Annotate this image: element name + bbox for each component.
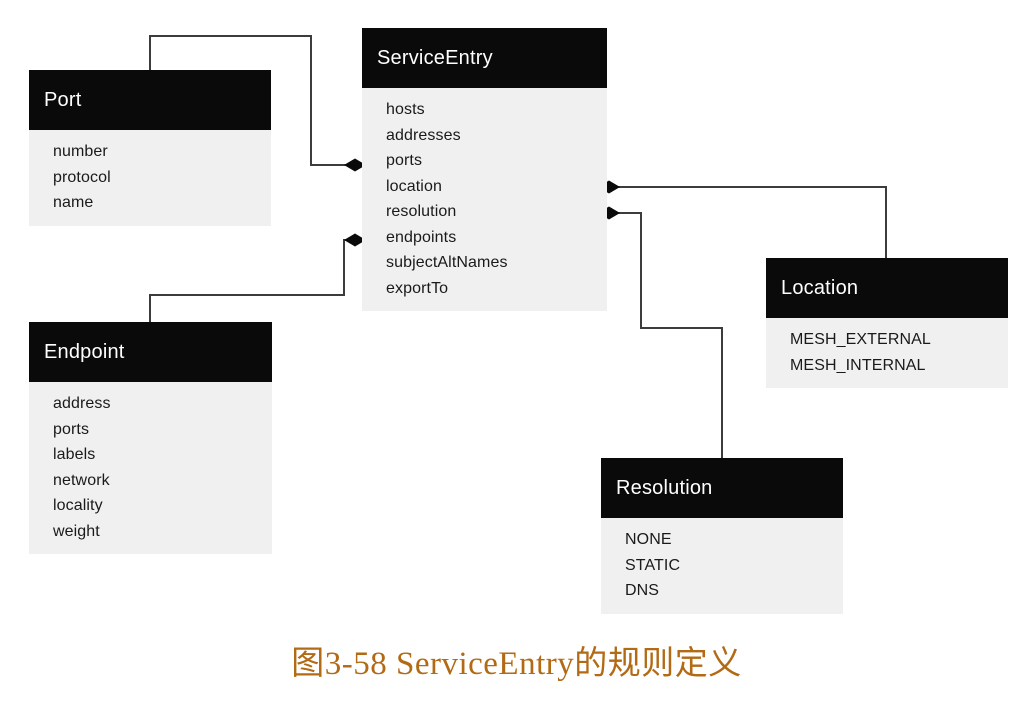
uml-class-endpoint-fields: address ports labels network locality we… bbox=[29, 382, 272, 554]
uml-class-resolution-title: Resolution bbox=[601, 458, 843, 518]
uml-class-serviceentry-title: ServiceEntry bbox=[362, 28, 607, 88]
uml-class-resolution-fields: NONE STATIC DNS bbox=[601, 518, 843, 614]
connector-serviceentry-to-location bbox=[614, 187, 886, 258]
uml-class-port[interactable]: Port number protocol name bbox=[29, 70, 271, 226]
uml-field: STATIC bbox=[625, 553, 843, 579]
uml-field: number bbox=[53, 139, 271, 165]
uml-field: weight bbox=[53, 519, 272, 545]
uml-field: MESH_INTERNAL bbox=[790, 353, 1008, 379]
uml-class-port-name: Port bbox=[44, 89, 81, 112]
uml-field: labels bbox=[53, 442, 272, 468]
uml-class-serviceentry-name: ServiceEntry bbox=[377, 47, 493, 70]
uml-field: resolution bbox=[386, 199, 607, 225]
uml-field: ports bbox=[53, 417, 272, 443]
uml-class-resolution-name: Resolution bbox=[616, 477, 713, 500]
uml-class-resolution[interactable]: Resolution NONE STATIC DNS bbox=[601, 458, 843, 614]
figure-caption: 图3-58 ServiceEntry的规则定义 bbox=[0, 636, 1033, 684]
connector-serviceentry-to-resolution bbox=[614, 213, 722, 458]
uml-class-endpoint-name: Endpoint bbox=[44, 341, 125, 364]
uml-field: locality bbox=[53, 493, 272, 519]
uml-field: subjectAltNames bbox=[386, 250, 607, 276]
uml-class-port-fields: number protocol name bbox=[29, 130, 271, 226]
uml-field: DNS bbox=[625, 578, 843, 604]
uml-class-diagram: Port number protocol name ServiceEntry h… bbox=[0, 0, 1033, 715]
uml-field: hosts bbox=[386, 97, 607, 123]
uml-class-endpoint[interactable]: Endpoint address ports labels network lo… bbox=[29, 322, 272, 554]
uml-field: NONE bbox=[625, 527, 843, 553]
uml-field: MESH_EXTERNAL bbox=[790, 327, 1008, 353]
uml-class-endpoint-title: Endpoint bbox=[29, 322, 272, 382]
uml-class-serviceentry[interactable]: ServiceEntry hosts addresses ports locat… bbox=[362, 28, 607, 311]
uml-field: protocol bbox=[53, 165, 271, 191]
uml-field: network bbox=[53, 468, 272, 494]
uml-field: address bbox=[53, 391, 272, 417]
uml-class-port-title: Port bbox=[29, 70, 271, 130]
uml-field: endpoints bbox=[386, 225, 607, 251]
uml-field: exportTo bbox=[386, 276, 607, 302]
uml-class-location-title: Location bbox=[766, 258, 1008, 318]
uml-class-location-name: Location bbox=[781, 277, 858, 300]
connector-endpoint-to-serviceentry bbox=[150, 240, 355, 322]
uml-field: location bbox=[386, 174, 607, 200]
uml-class-location[interactable]: Location MESH_EXTERNAL MESH_INTERNAL bbox=[766, 258, 1008, 388]
uml-field: name bbox=[53, 190, 271, 216]
uml-class-location-fields: MESH_EXTERNAL MESH_INTERNAL bbox=[766, 318, 1008, 388]
uml-field: addresses bbox=[386, 123, 607, 149]
uml-class-serviceentry-fields: hosts addresses ports location resolutio… bbox=[362, 88, 607, 311]
uml-field: ports bbox=[386, 148, 607, 174]
